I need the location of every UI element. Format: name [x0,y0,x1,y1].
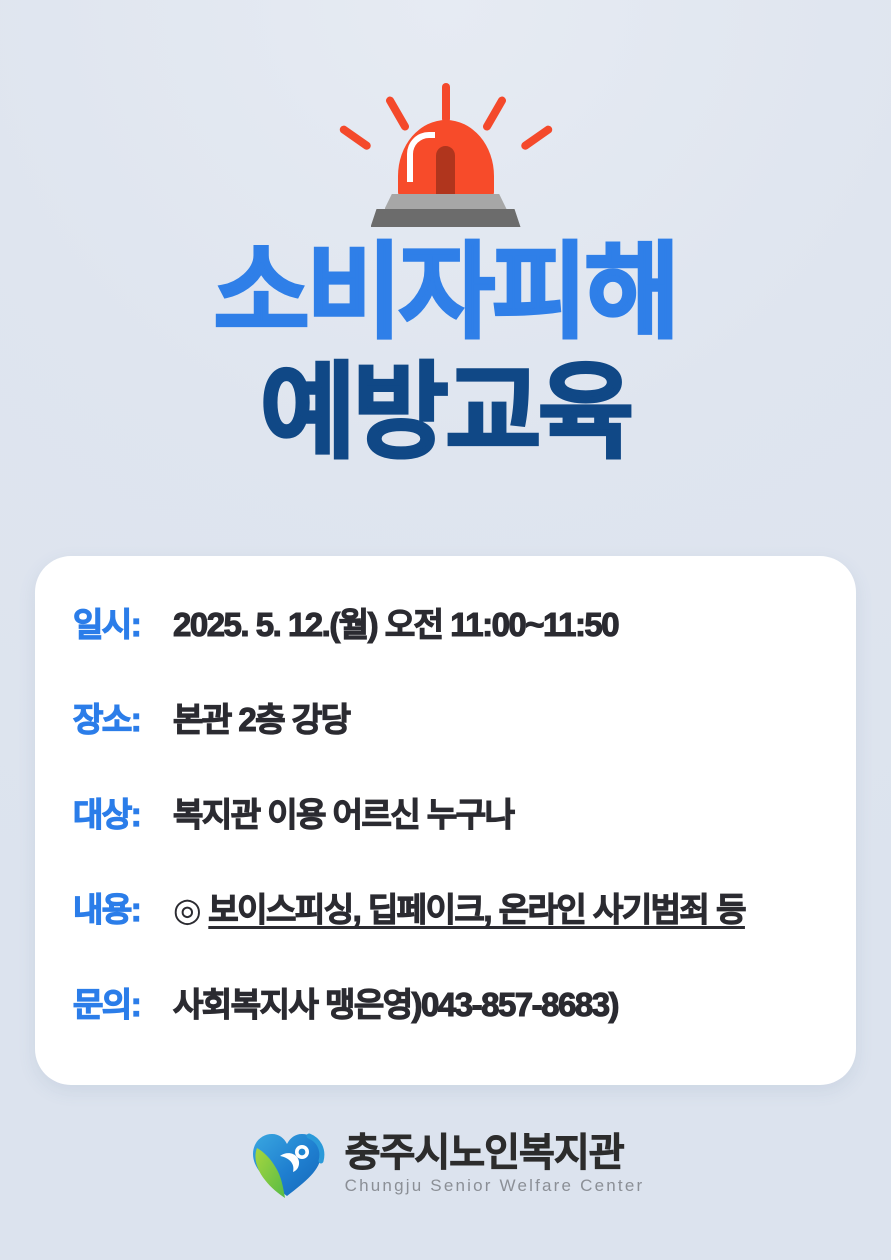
logo-text-block: 충주시노인복지관 Chungju Senior Welfare Center [345,1134,645,1195]
info-value-contact: 사회복지사 맹은영)043-857-8683) [173,978,856,1026]
siren-base-top [385,194,507,209]
bullseye-icon: ◎ [173,891,200,928]
footer-logo: 충주시노인복지관 Chungju Senior Welfare Center [0,1126,891,1202]
info-card: 일시: 2025. 5. 12.(월) 오전 11:00~11:50 장소: 본… [35,556,856,1085]
info-value-audience: 복지관 이용 어르신 누구나 [173,788,856,836]
title-line-1: 소비자피해 [0,240,891,346]
info-row-content: 내용: ◎보이스피싱, 딥페이크, 온라인 사기범죄 등 [35,883,856,978]
info-row-audience: 대상: 복지관 이용 어르신 누구나 [35,788,856,883]
info-row-place: 장소: 본관 2층 강당 [35,693,856,788]
siren-icon-wrapper [0,62,891,232]
siren-ray-2 [384,95,410,132]
info-value-date: 2025. 5. 12.(월) 오전 11:00~11:50 [173,598,856,646]
siren-dome-inner [436,146,455,198]
poster-title: 소비자피해 예방교육 [0,240,891,466]
info-label-content: 내용: [73,883,173,931]
siren-dome-highlight [407,132,435,182]
info-label-date: 일시: [73,598,173,646]
info-value-place: 본관 2층 강당 [173,693,856,741]
siren-ray-1 [338,124,372,151]
heart-hand-logo-icon [247,1126,329,1202]
siren-icon [351,72,541,232]
siren-ray-5 [519,124,553,151]
info-label-place: 장소: [73,693,173,741]
info-label-audience: 대상: [73,788,173,836]
siren-ray-3 [442,83,450,123]
organization-name-ko: 충주시노인복지관 [345,1134,645,1175]
siren-base-bottom [371,209,521,227]
organization-name-en: Chungju Senior Welfare Center [345,1177,645,1194]
info-value-content: ◎보이스피싱, 딥페이크, 온라인 사기범죄 등 [173,883,856,931]
siren-dome [398,120,494,198]
info-row-contact: 문의: 사회복지사 맹은영)043-857-8683) [35,978,856,1073]
siren-ray-4 [481,95,507,132]
poster-root: 소비자피해 예방교육 일시: 2025. 5. 12.(월) 오전 11:00~… [0,0,891,1260]
title-line-2: 예방교육 [0,360,891,466]
info-row-date: 일시: 2025. 5. 12.(월) 오전 11:00~11:50 [35,598,856,693]
info-label-contact: 문의: [73,978,173,1026]
info-value-content-text: 보이스피싱, 딥페이크, 온라인 사기범죄 등 [208,891,745,928]
